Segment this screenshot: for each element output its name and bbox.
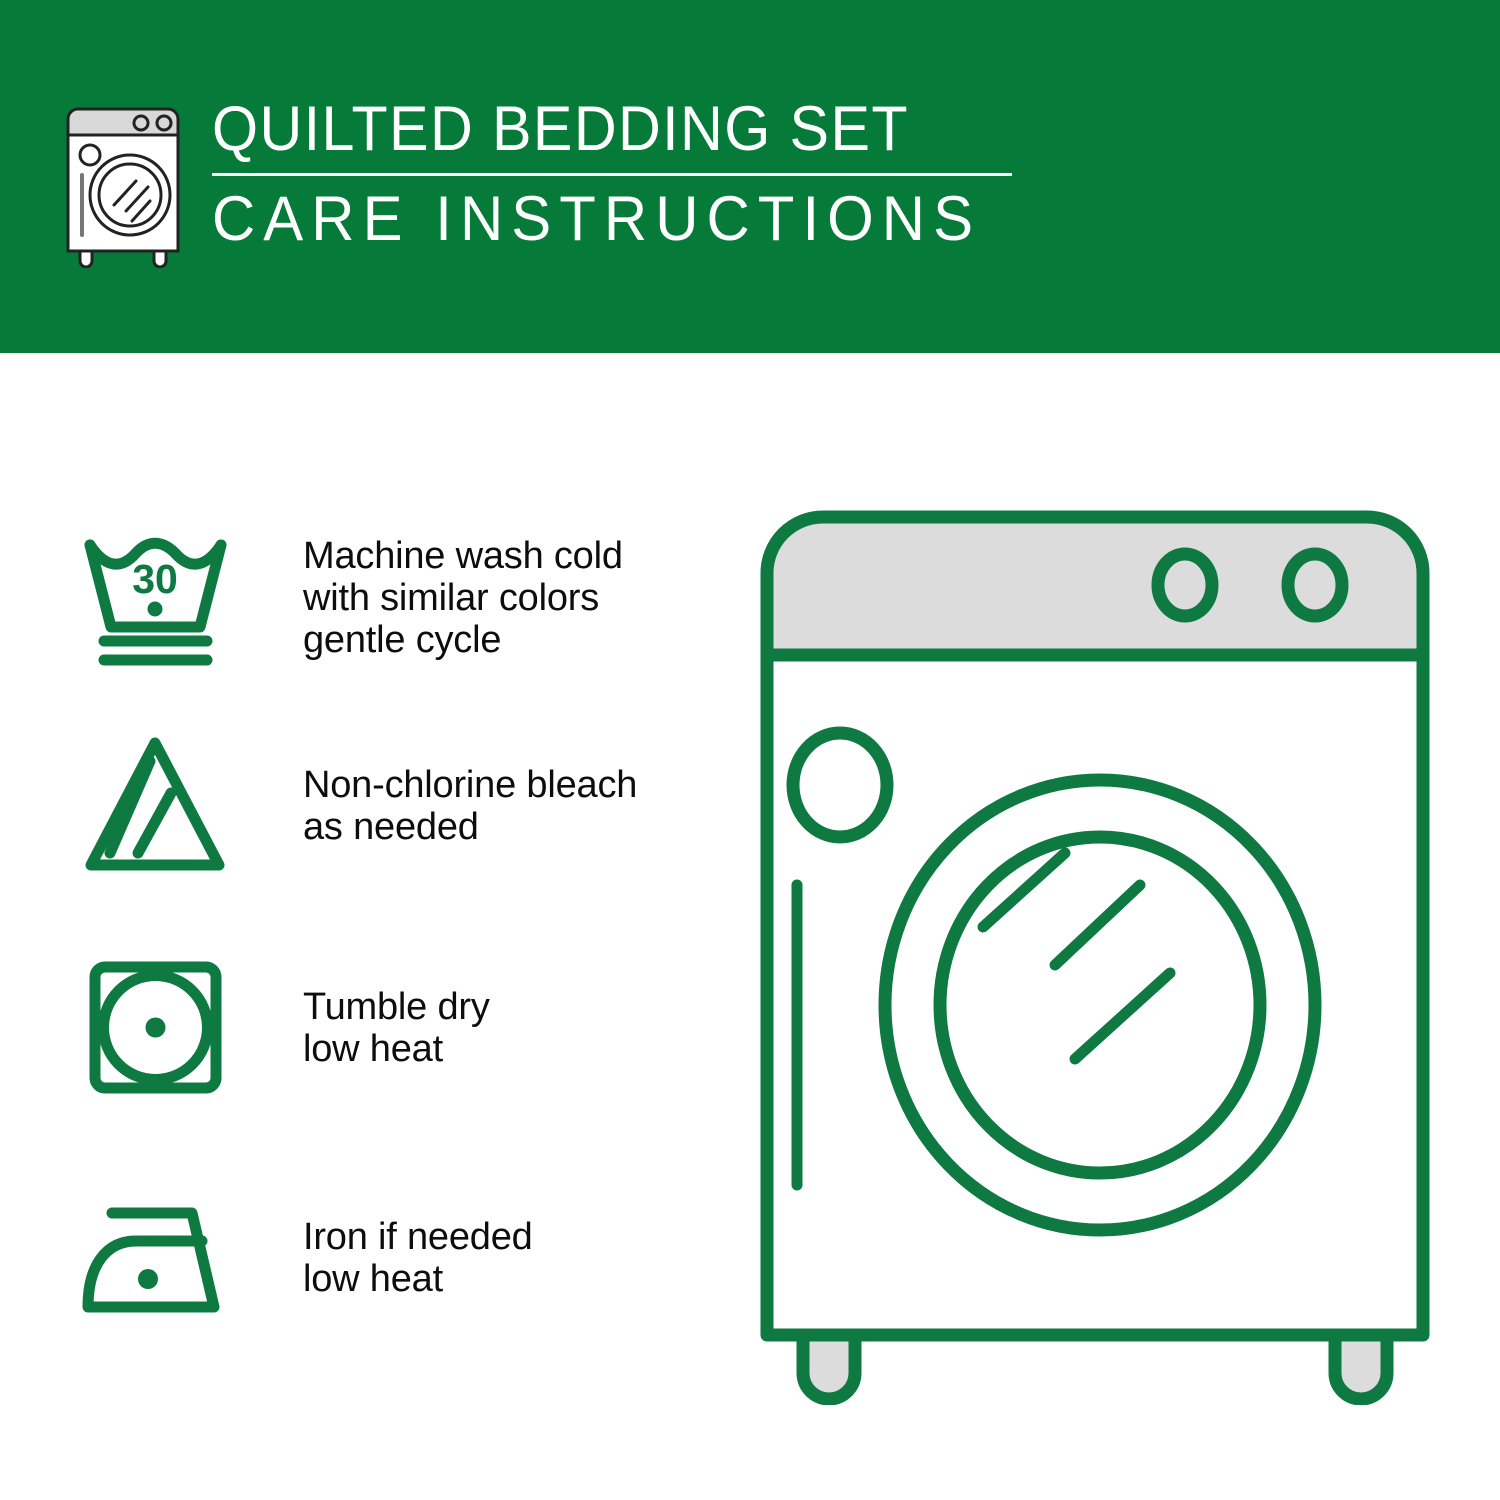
care-row: Non-chlorine bleach as needed <box>78 731 718 881</box>
care-text-line: low heat <box>303 1028 490 1070</box>
tumble-dry-low-heat-icon <box>78 953 233 1103</box>
care-text: Machine wash cold with similar colors ge… <box>303 535 623 661</box>
care-text: Tumble dry low heat <box>303 986 490 1070</box>
washing-machine-logo-icon <box>62 103 190 268</box>
care-row: Iron if needed low heat <box>78 1183 718 1333</box>
care-instruction-list: 30 Machine wash cold with similar colors… <box>0 353 740 1500</box>
care-text: Iron if needed low heat <box>303 1216 533 1300</box>
care-text-line: as needed <box>303 806 637 848</box>
iron-low-heat-icon <box>78 1183 233 1333</box>
care-text-line: Tumble dry <box>303 986 490 1028</box>
care-text-line: Non-chlorine bleach <box>303 764 637 806</box>
leg-right <box>1335 1335 1387 1399</box>
page-subtitle: CARE INSTRUCTIONS <box>212 184 981 254</box>
care-text-line: gentle cycle <box>303 619 623 661</box>
page-title: QUILTED BEDDING SET <box>212 95 973 163</box>
care-text: Non-chlorine bleach as needed <box>303 764 637 848</box>
leg-left <box>803 1335 855 1399</box>
title-divider <box>212 173 1012 176</box>
knob-left <box>1158 554 1212 616</box>
door-inner-ring <box>940 837 1260 1173</box>
title-block: QUILTED BEDDING SET CARE INSTRUCTIONS <box>212 95 1022 254</box>
care-text-line: with similar colors <box>303 577 623 619</box>
detergent-indicator-circle <box>793 733 887 837</box>
header-content: QUILTED BEDDING SET CARE INSTRUCTIONS <box>62 95 1022 268</box>
care-row: 30 Machine wash cold with similar colors… <box>78 523 718 673</box>
front-load-washing-machine-illustration <box>745 495 1445 1405</box>
care-text-line: low heat <box>303 1258 533 1300</box>
wash-basin-30-gentle-icon: 30 <box>78 523 233 673</box>
care-row: Tumble dry low heat <box>78 953 718 1103</box>
knob-right <box>1288 554 1342 616</box>
header-banner: QUILTED BEDDING SET CARE INSTRUCTIONS <box>0 0 1500 353</box>
care-text-line: Iron if needed <box>303 1216 533 1258</box>
care-text-line: Machine wash cold <box>303 535 623 577</box>
wash-temperature-value: 30 <box>132 556 178 602</box>
bleach-triangle-non-chlorine-icon <box>78 731 233 881</box>
